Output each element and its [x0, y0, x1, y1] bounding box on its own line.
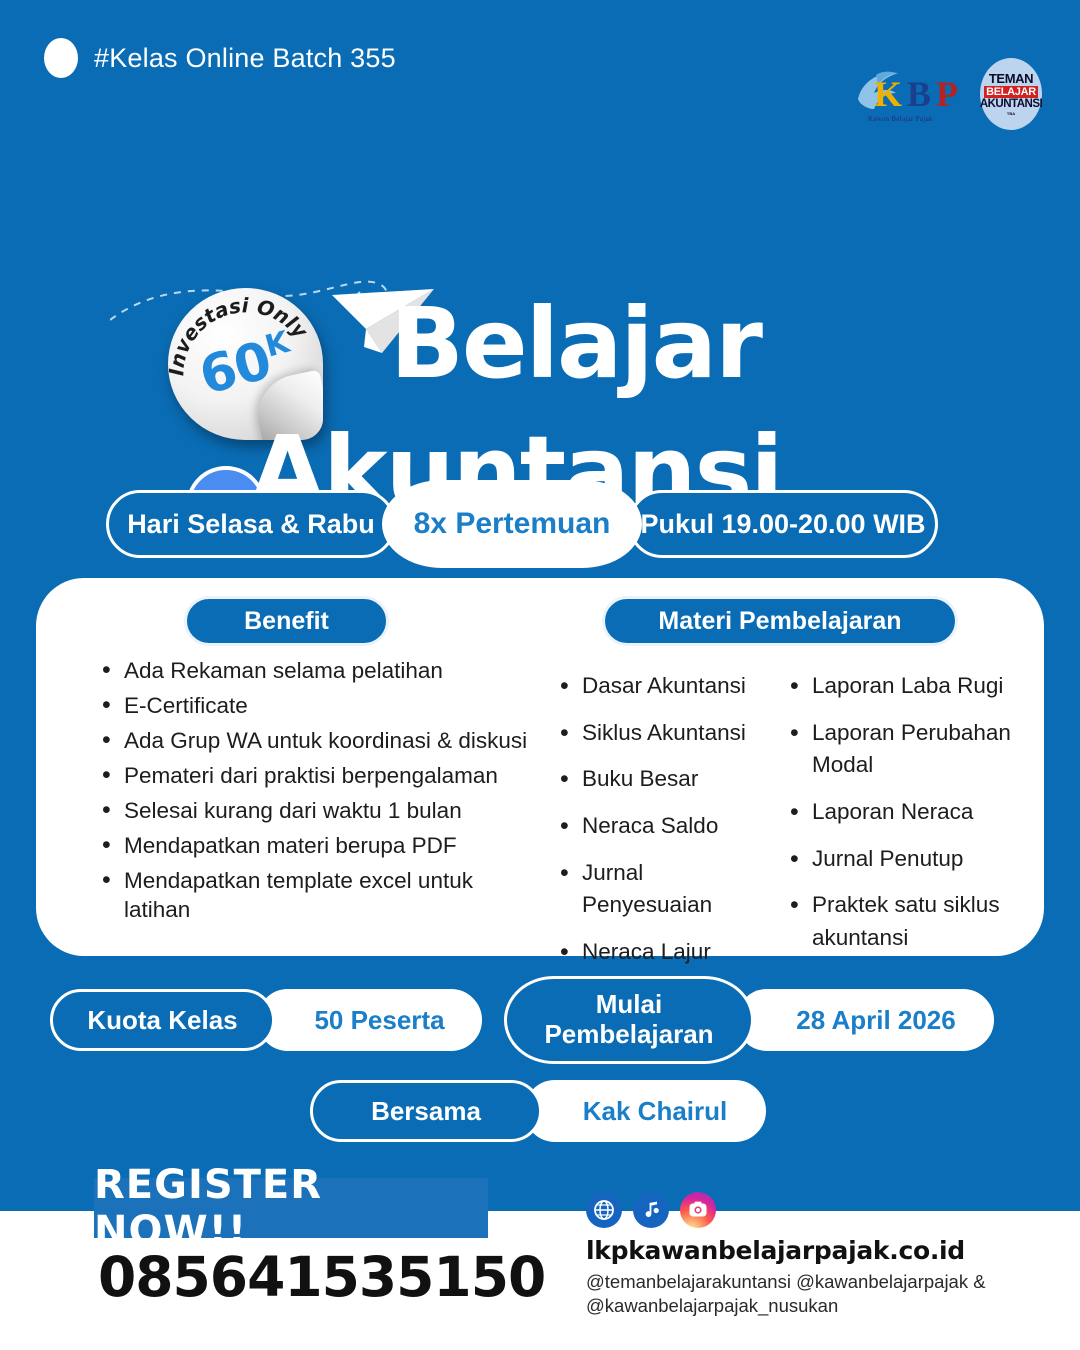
globe-icon[interactable] [586, 1192, 622, 1228]
list-item: Neraca Lajur [556, 936, 766, 969]
list-item: Laporan Neraca [786, 796, 1021, 829]
list-item: Praktek satu siklus akuntansi [786, 889, 1021, 954]
brand-logos: KBP Kawan Belajar Pajak TEMAN BELAJAR AK… [852, 58, 1042, 130]
instructor-name-pill: Kak Chairul [524, 1080, 766, 1142]
instructor-row: Bersama Kak Chairul [310, 1080, 766, 1142]
list-item: Buku Besar [556, 763, 766, 796]
materi-list-column-2: Laporan Laba Rugi Laporan Perubahan Moda… [786, 670, 1021, 968]
materi-heading: Materi Pembelajaran [602, 596, 958, 646]
instagram-camera-glyph [687, 1199, 709, 1221]
tba-line-2: BELAJAR [984, 86, 1038, 98]
teman-belajar-akuntansi-logo: TEMAN BELAJAR AKUNTANSI TBA [980, 58, 1042, 130]
social-icon-row [586, 1192, 1080, 1228]
register-now-label: REGISTER NOW!! [94, 1162, 488, 1254]
instructor-label-pill: Bersama [310, 1080, 542, 1142]
benefit-list: Ada Rekaman selama pelatihan E-Certifica… [98, 656, 528, 930]
tba-line-4: TBA [1007, 111, 1015, 116]
header-hashtag-group: #Kelas Online Batch 355 [44, 38, 396, 78]
list-item: Mendapatkan template excel untuk latihan [98, 866, 528, 926]
kbp-letter-p: P [936, 74, 963, 114]
title-belajar: Belajar [390, 298, 761, 390]
list-item: E-Certificate [98, 691, 528, 721]
quota-value-pill: 50 Peserta [257, 989, 482, 1051]
schedule-sessions-pill: 8x Pertemuan [382, 480, 642, 568]
list-item: Pemateri dari praktisi berpengalaman [98, 761, 528, 791]
class-info-row: Kuota Kelas 50 Peserta Mulai Pembelajara… [50, 976, 994, 1064]
start-value-pill: 28 April 2026 [736, 989, 994, 1051]
list-item: Laporan Laba Rugi [786, 670, 1021, 703]
list-item: Jurnal Penutup [786, 843, 1021, 876]
benefit-heading: Benefit [184, 596, 389, 646]
list-item: Dasar Akuntansi [556, 670, 766, 703]
schedule-time-pill: Pukul 19.00-20.00 WIB [628, 490, 938, 558]
social-handles: @temanbelajarakuntansi @kawanbelajarpaja… [586, 1270, 1080, 1317]
kbp-tagline: Kawan Belajar Pajak [868, 115, 933, 123]
start-label-pill: Mulai Pembelajaran [504, 976, 754, 1064]
globe-glyph [593, 1199, 615, 1221]
website-url[interactable]: lkpkawanbelajarpajak.co.id [586, 1236, 1080, 1265]
materi-list-column-1: Dasar Akuntansi Siklus Akuntansi Buku Be… [556, 670, 766, 982]
content-card: Benefit Materi Pembelajaran Ada Rekaman … [36, 578, 1044, 956]
tba-line-1: TEMAN [989, 72, 1033, 85]
list-item: Ada Rekaman selama pelatihan [98, 656, 528, 686]
list-item: Siklus Akuntansi [556, 717, 766, 750]
list-item: Selesai kurang dari waktu 1 bulan [98, 796, 528, 826]
music-note-glyph [641, 1200, 661, 1220]
list-item: Ada Grup WA untuk koordinasi & diskusi [98, 726, 528, 756]
kbp-letter-k: K [874, 74, 907, 114]
kbp-letters: KBP [874, 73, 963, 115]
hero-section: Investasi Only 60K Belajar DARi Akuntans… [0, 140, 1080, 440]
social-contact-block: lkpkawanbelajarpajak.co.id @temanbelajar… [586, 1192, 1080, 1317]
kbp-letter-b: B [907, 74, 936, 114]
tiktok-music-icon[interactable] [633, 1192, 669, 1228]
list-item: Mendapatkan materi berupa PDF [98, 831, 528, 861]
list-item: Jurnal Penyesuaian [556, 857, 766, 922]
instagram-icon[interactable] [680, 1192, 716, 1228]
schedule-row: Hari Selasa & Rabu 8x Pertemuan Pukul 19… [106, 480, 938, 568]
contact-phone-number[interactable]: 085641535150 [98, 1245, 545, 1309]
kbp-logo: KBP Kawan Belajar Pajak [852, 63, 962, 125]
quota-label-pill: Kuota Kelas [50, 989, 275, 1051]
list-item: Laporan Perubahan Modal [786, 717, 1021, 782]
register-now-banner[interactable]: REGISTER NOW!! [94, 1178, 488, 1238]
batch-hashtag: #Kelas Online Batch 355 [94, 43, 396, 74]
list-item: Neraca Saldo [556, 810, 766, 843]
hero-title: Belajar DARi Akuntansi 0 [390, 298, 761, 390]
schedule-days-pill: Hari Selasa & Rabu [106, 490, 396, 558]
white-dot-icon [44, 38, 78, 78]
tba-line-3: AKUNTANSI [980, 99, 1042, 111]
